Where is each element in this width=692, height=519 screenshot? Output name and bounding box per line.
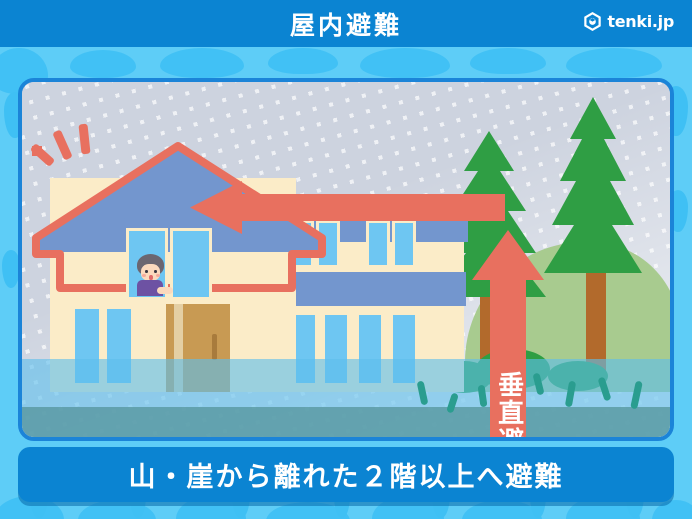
header-bar: 屋内避難 tenki.jp [0, 0, 692, 47]
pine-tree-back [538, 97, 648, 377]
horizontal-arrow-left [190, 181, 505, 234]
brand-logo[interactable]: tenki.jp [583, 11, 674, 32]
vertical-arrow-label: 垂直避難 [472, 342, 544, 441]
person-in-window [132, 254, 174, 304]
infographic-root: 屋内避難 tenki.jp [0, 0, 692, 519]
flood-water-deep [22, 407, 670, 437]
illustration-panel: 垂直避難 [18, 78, 674, 441]
house [40, 124, 460, 392]
cube-hexagon-icon [583, 11, 602, 32]
vertical-arrow-up: 垂直避難 [472, 230, 544, 441]
brand-logo-text: tenki.jp [607, 12, 674, 31]
second-floor-window-right [170, 228, 212, 300]
caption-bar: 山・崖から離れた２階以上へ避難 [18, 447, 674, 502]
caption-text: 山・崖から離れた２階以上へ避難 [129, 455, 564, 494]
emphasis-spark-3 [78, 124, 90, 155]
arrow-left-icon [190, 181, 505, 234]
